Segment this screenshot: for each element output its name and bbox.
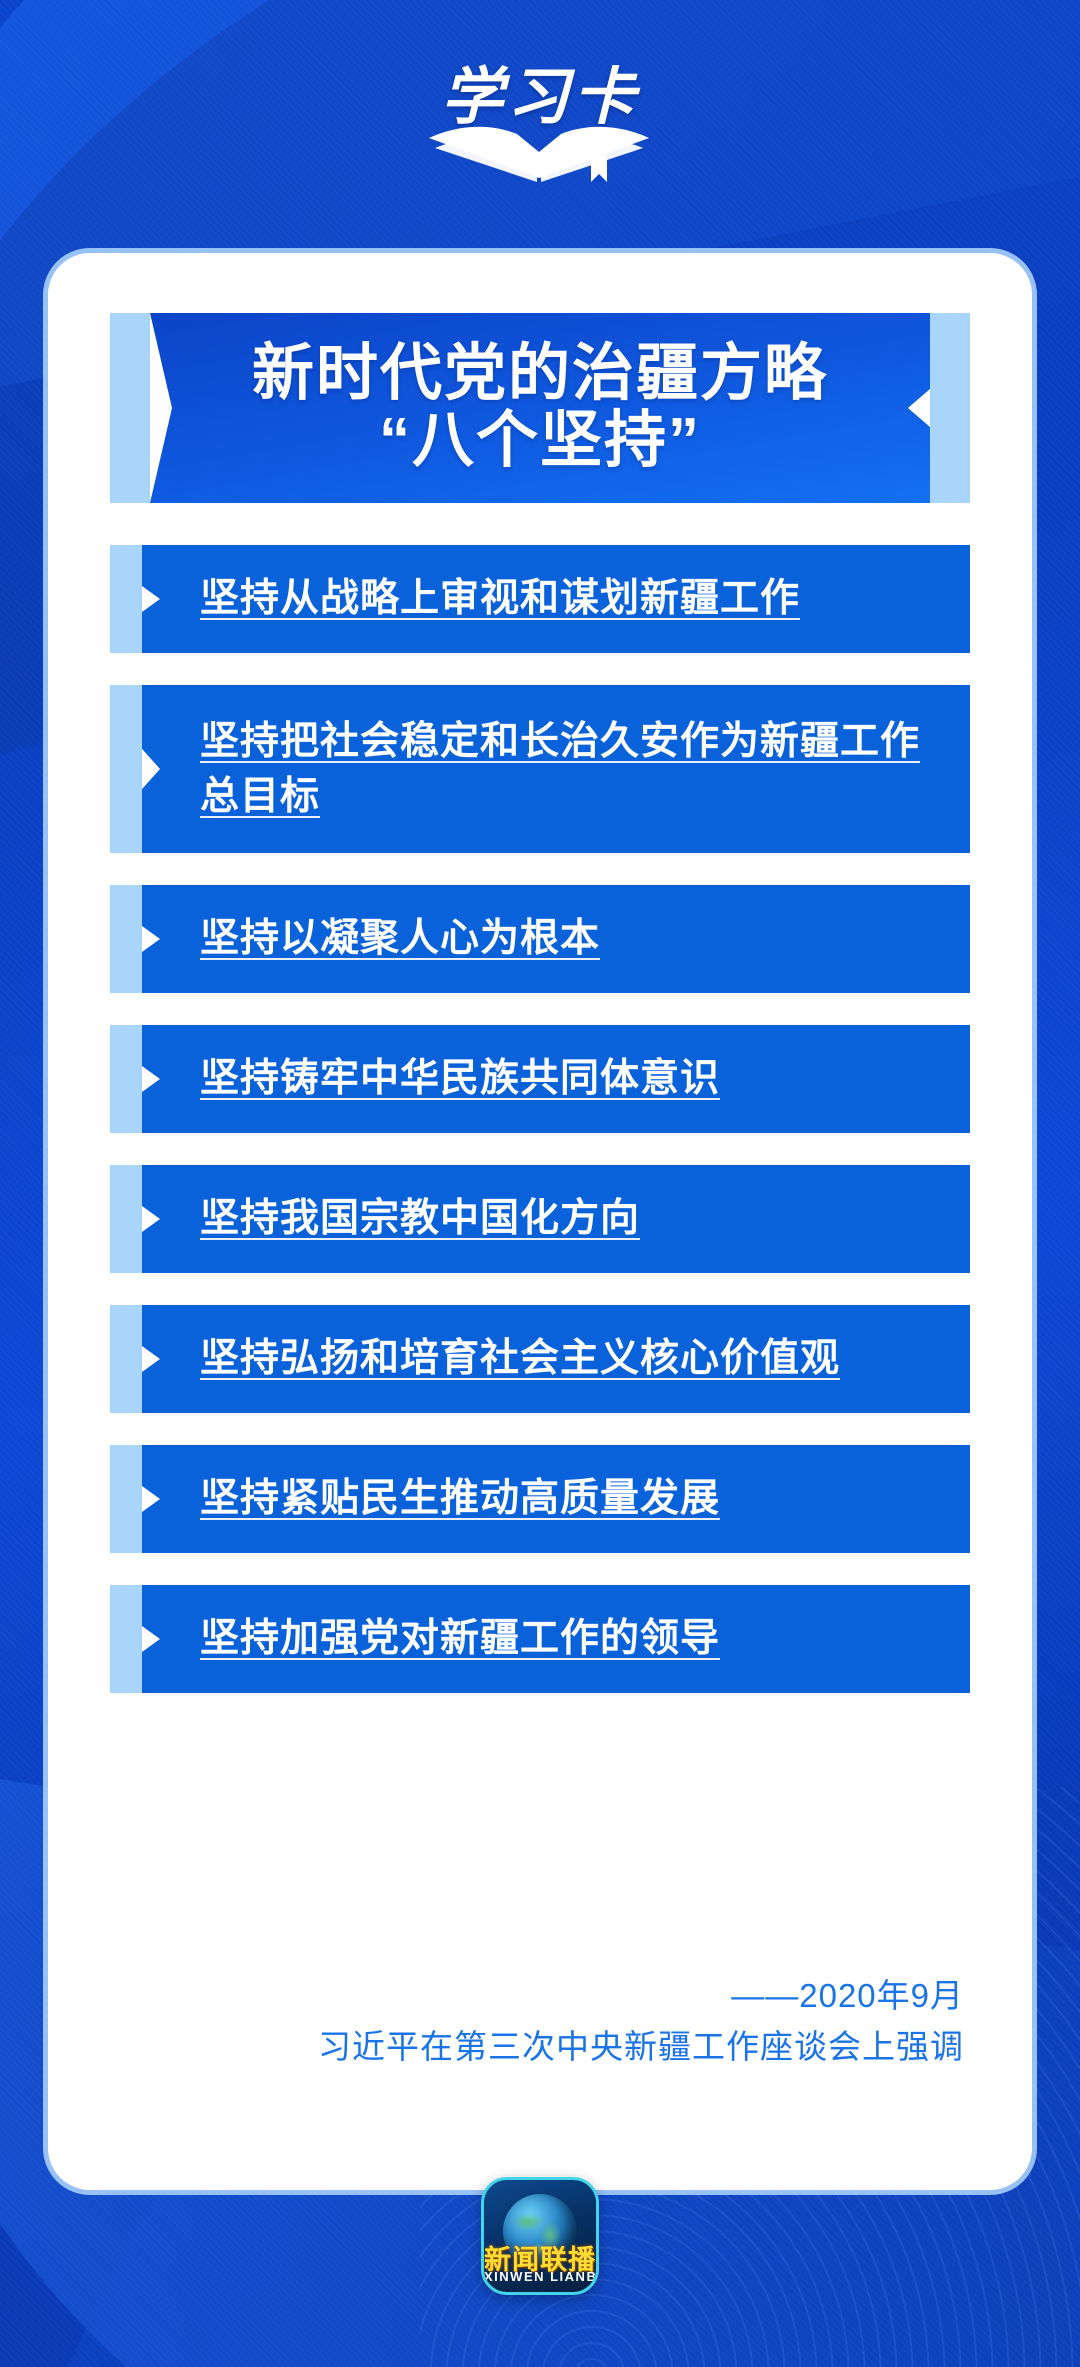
list-item-bar: 坚持加强党对新疆工作的领导 [142,1585,970,1693]
content-card: 新时代党的治疆方略 “八个坚持” 坚持从战略上审视和谋划新疆工作 坚持把社会稳定… [48,253,1032,2190]
list-item-label: 坚持紧贴民生推动高质量发展 [200,1471,720,1526]
list-item-tab [110,545,142,653]
list-item[interactable]: 坚持弘扬和培育社会主义核心价值观 [110,1305,970,1413]
principles-list: 坚持从战略上审视和谋划新疆工作 坚持把社会稳定和长治久安作为新疆工作总目标 坚持… [110,545,970,1725]
list-item[interactable]: 坚持紧贴民生推动高质量发展 [110,1445,970,1553]
list-item[interactable]: 坚持从战略上审视和谋划新疆工作 [110,545,970,653]
list-item[interactable]: 坚持铸牢中华民族共同体意识 [110,1025,970,1133]
banner-body: 新时代党的治疆方略 “八个坚持” [150,313,930,503]
list-item-label: 坚持以凝聚人心为根本 [200,911,600,966]
banner-tab-right [930,313,970,503]
list-item-tab [110,1025,142,1133]
banner-title-line2: “八个坚持” [379,408,701,475]
list-item-bar: 坚持弘扬和培育社会主义核心价值观 [142,1305,970,1413]
list-item[interactable]: 坚持把社会稳定和长治久安作为新疆工作总目标 [110,685,970,853]
list-item-label: 坚持我国宗教中国化方向 [200,1191,640,1246]
attribution-date: ——2020年9月 [318,1970,964,2021]
app-icon-en-label: XINWEN LIANBO [484,2269,596,2284]
open-book-icon [425,104,655,189]
list-item-bar: 坚持把社会稳定和长治久安作为新疆工作总目标 [142,685,970,853]
list-item-tab [110,1305,142,1413]
title-banner: 新时代党的治疆方略 “八个坚持” [110,313,970,503]
xinwen-lianbo-app-icon[interactable]: 新闻联播 XINWEN LIANBO [481,2177,599,2295]
banner-tab-left [110,313,150,503]
list-item-label: 坚持把社会稳定和长治久安作为新疆工作总目标 [200,714,940,825]
attribution-source: 习近平在第三次中央新疆工作座谈会上强调 [318,2021,964,2072]
list-item-tab [110,1445,142,1553]
list-item[interactable]: 坚持加强党对新疆工作的领导 [110,1585,970,1693]
list-item-bar: 坚持紧贴民生推动高质量发展 [142,1445,970,1553]
list-item-label: 坚持加强党对新疆工作的领导 [200,1611,720,1666]
banner-title-line1: 新时代党的治疆方略 [252,341,828,406]
list-item[interactable]: 坚持我国宗教中国化方向 [110,1165,970,1273]
list-item-bar: 坚持以凝聚人心为根本 [142,885,970,993]
list-item-tab [110,885,142,993]
poster-header: 学习卡 [0,42,1080,192]
list-item-tab [110,685,142,853]
attribution: ——2020年9月 习近平在第三次中央新疆工作座谈会上强调 [318,1970,964,2072]
list-item-tab [110,1165,142,1273]
study-card-logo: 学习卡 [385,42,695,192]
list-item[interactable]: 坚持以凝聚人心为根本 [110,885,970,993]
list-item-label: 坚持从战略上审视和谋划新疆工作 [200,571,800,626]
list-item-label: 坚持弘扬和培育社会主义核心价值观 [200,1331,840,1386]
list-item-label: 坚持铸牢中华民族共同体意识 [200,1051,720,1106]
list-item-bar: 坚持从战略上审视和谋划新疆工作 [142,545,970,653]
list-item-tab [110,1585,142,1693]
list-item-bar: 坚持我国宗教中国化方向 [142,1165,970,1273]
list-item-bar: 坚持铸牢中华民族共同体意识 [142,1025,970,1133]
footer-branding: 新闻联播 XINWEN LIANBO [481,2177,599,2295]
